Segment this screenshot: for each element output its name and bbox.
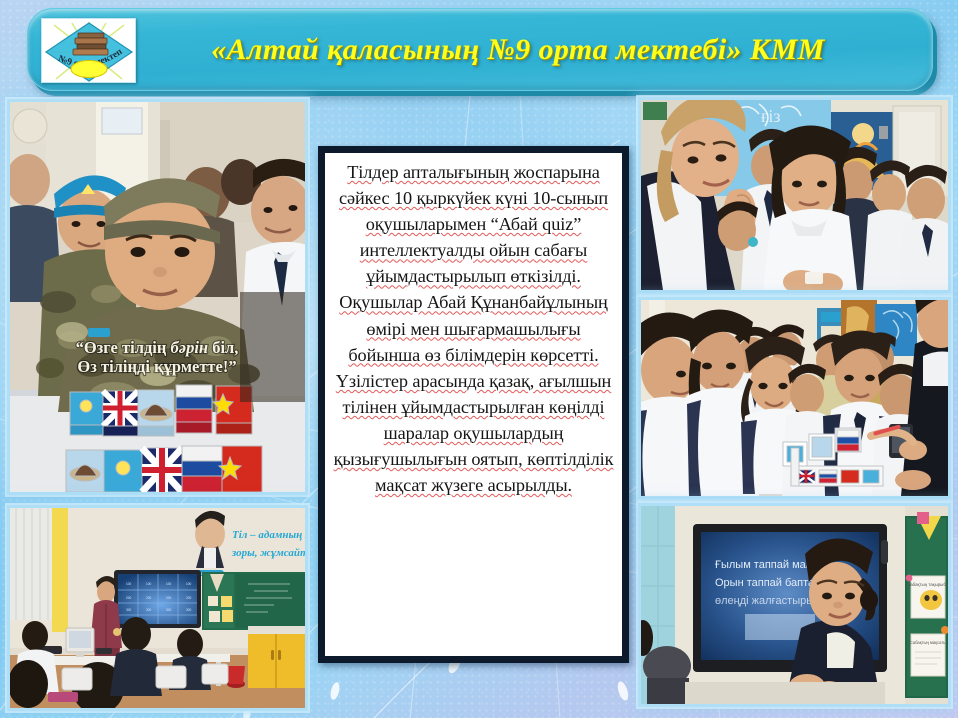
svg-text:300: 300 xyxy=(146,608,152,612)
photo-board: Ғылым таппай мақтанба, Орын таппай бапта… xyxy=(641,506,948,704)
svg-text:100: 100 xyxy=(166,582,172,586)
photo-class-graphic: Абай Құнанбайұлы Тіл – адамның ұ зоры, ж… xyxy=(10,508,305,708)
svg-text:200: 200 xyxy=(126,596,132,600)
svg-text:100: 100 xyxy=(126,582,132,586)
svg-text:300: 300 xyxy=(126,608,132,612)
photo-teacher1: ғіз xyxy=(641,100,948,290)
poster-line1: Тіл – адамның ұ xyxy=(232,529,305,541)
page-title: «Алтай қаласының №9 орта мектебі» КММ xyxy=(28,33,932,67)
photo-board-graphic: Ғылым таппай мақтанба, Орын таппай бапта… xyxy=(641,506,948,704)
photo-soldiers-graphic: “Өзге тілдің бәрін біл, Өз тіліңді құрме… xyxy=(10,102,305,492)
svg-text:200: 200 xyxy=(146,596,152,600)
body-text-box: Тілдер апталығының жоспарына сәйкес 10 қ… xyxy=(318,146,629,663)
svg-text:100: 100 xyxy=(186,582,192,586)
photo-soldiers-caption-line2: Өз тіліңді құрметте!” xyxy=(77,357,236,376)
svg-text:300: 300 xyxy=(166,608,172,612)
svg-text:200: 200 xyxy=(186,596,192,600)
photo-teacher1-graphic: ғіз xyxy=(641,100,948,290)
slide-title-bar: №9 орта мектеп «Алтай қаласының №9 орта … xyxy=(27,8,933,91)
slide-canvas: №9 орта мектеп «Алтай қаласының №9 орта … xyxy=(0,0,958,718)
photo-cubes: Қ xyxy=(641,300,948,496)
svg-text:200: 200 xyxy=(166,596,172,600)
photo-cubes-graphic: Қ xyxy=(641,300,948,496)
svg-text:Сабақтың тақырыбы: Сабақтың тақырыбы xyxy=(907,582,948,587)
photo-soldiers-caption-line1: “Өзге тілдің бәрін біл, xyxy=(76,338,239,357)
svg-text:ғіз: ғіз xyxy=(761,106,781,126)
body-text: Тілдер апталығының жоспарына сәйкес 10 қ… xyxy=(332,159,615,498)
photo-class: Абай Құнанбайұлы Тіл – адамның ұ зоры, ж… xyxy=(10,508,305,708)
svg-text:Сабақтың мақсаты: Сабақтың мақсаты xyxy=(910,640,947,645)
school-emblem-graphic: №9 орта мектеп xyxy=(42,19,136,83)
photo-soldiers: “Өзге тілдің бәрін біл, Өз тіліңді құрме… xyxy=(10,102,305,492)
school-emblem: №9 орта мектеп xyxy=(41,18,136,83)
poster-line2: зоры, жұмсайт xyxy=(231,547,305,559)
svg-text:300: 300 xyxy=(186,608,192,612)
svg-text:100: 100 xyxy=(146,582,152,586)
